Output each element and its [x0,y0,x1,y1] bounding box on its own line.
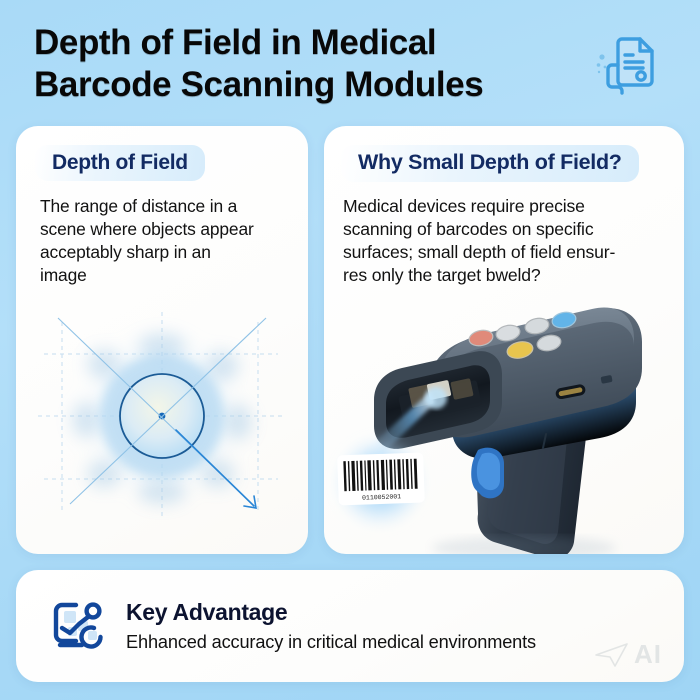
card-left-pill-label: Depth of Field [35,145,205,181]
page-title: Depth of Field in Medical Barcode Scanni… [34,22,483,107]
key-advantage-subtitle: Ehhanced accuracy in critical medical en… [126,632,536,653]
document-certificate-icon [592,27,666,101]
bokeh-depth-of-field-diagram [26,294,298,544]
card-right-pill-label: Why Small Depth of Field? [341,145,639,182]
key-advantage-title: Key Advantage [126,599,536,626]
handheld-barcode-scanner-illustration: 0110052001 [324,276,684,554]
analytics-screen-icon [46,595,108,657]
page-header: Depth of Field in Medical Barcode Scanni… [0,0,700,118]
barcode-digits: 0110052001 [362,493,401,501]
card-depth-of-field: Depth of Field The range of distance in … [16,126,308,554]
card-left-body-text: The range of distance in a scene where o… [40,195,286,287]
card-key-advantage: Key Advantage Ehhanced accuracy in criti… [16,570,684,682]
card-right-body-text: Medical devices require precise scanning… [343,195,666,288]
card-why-small-depth-of-field: Why Small Depth of Field? Medical device… [324,126,684,554]
